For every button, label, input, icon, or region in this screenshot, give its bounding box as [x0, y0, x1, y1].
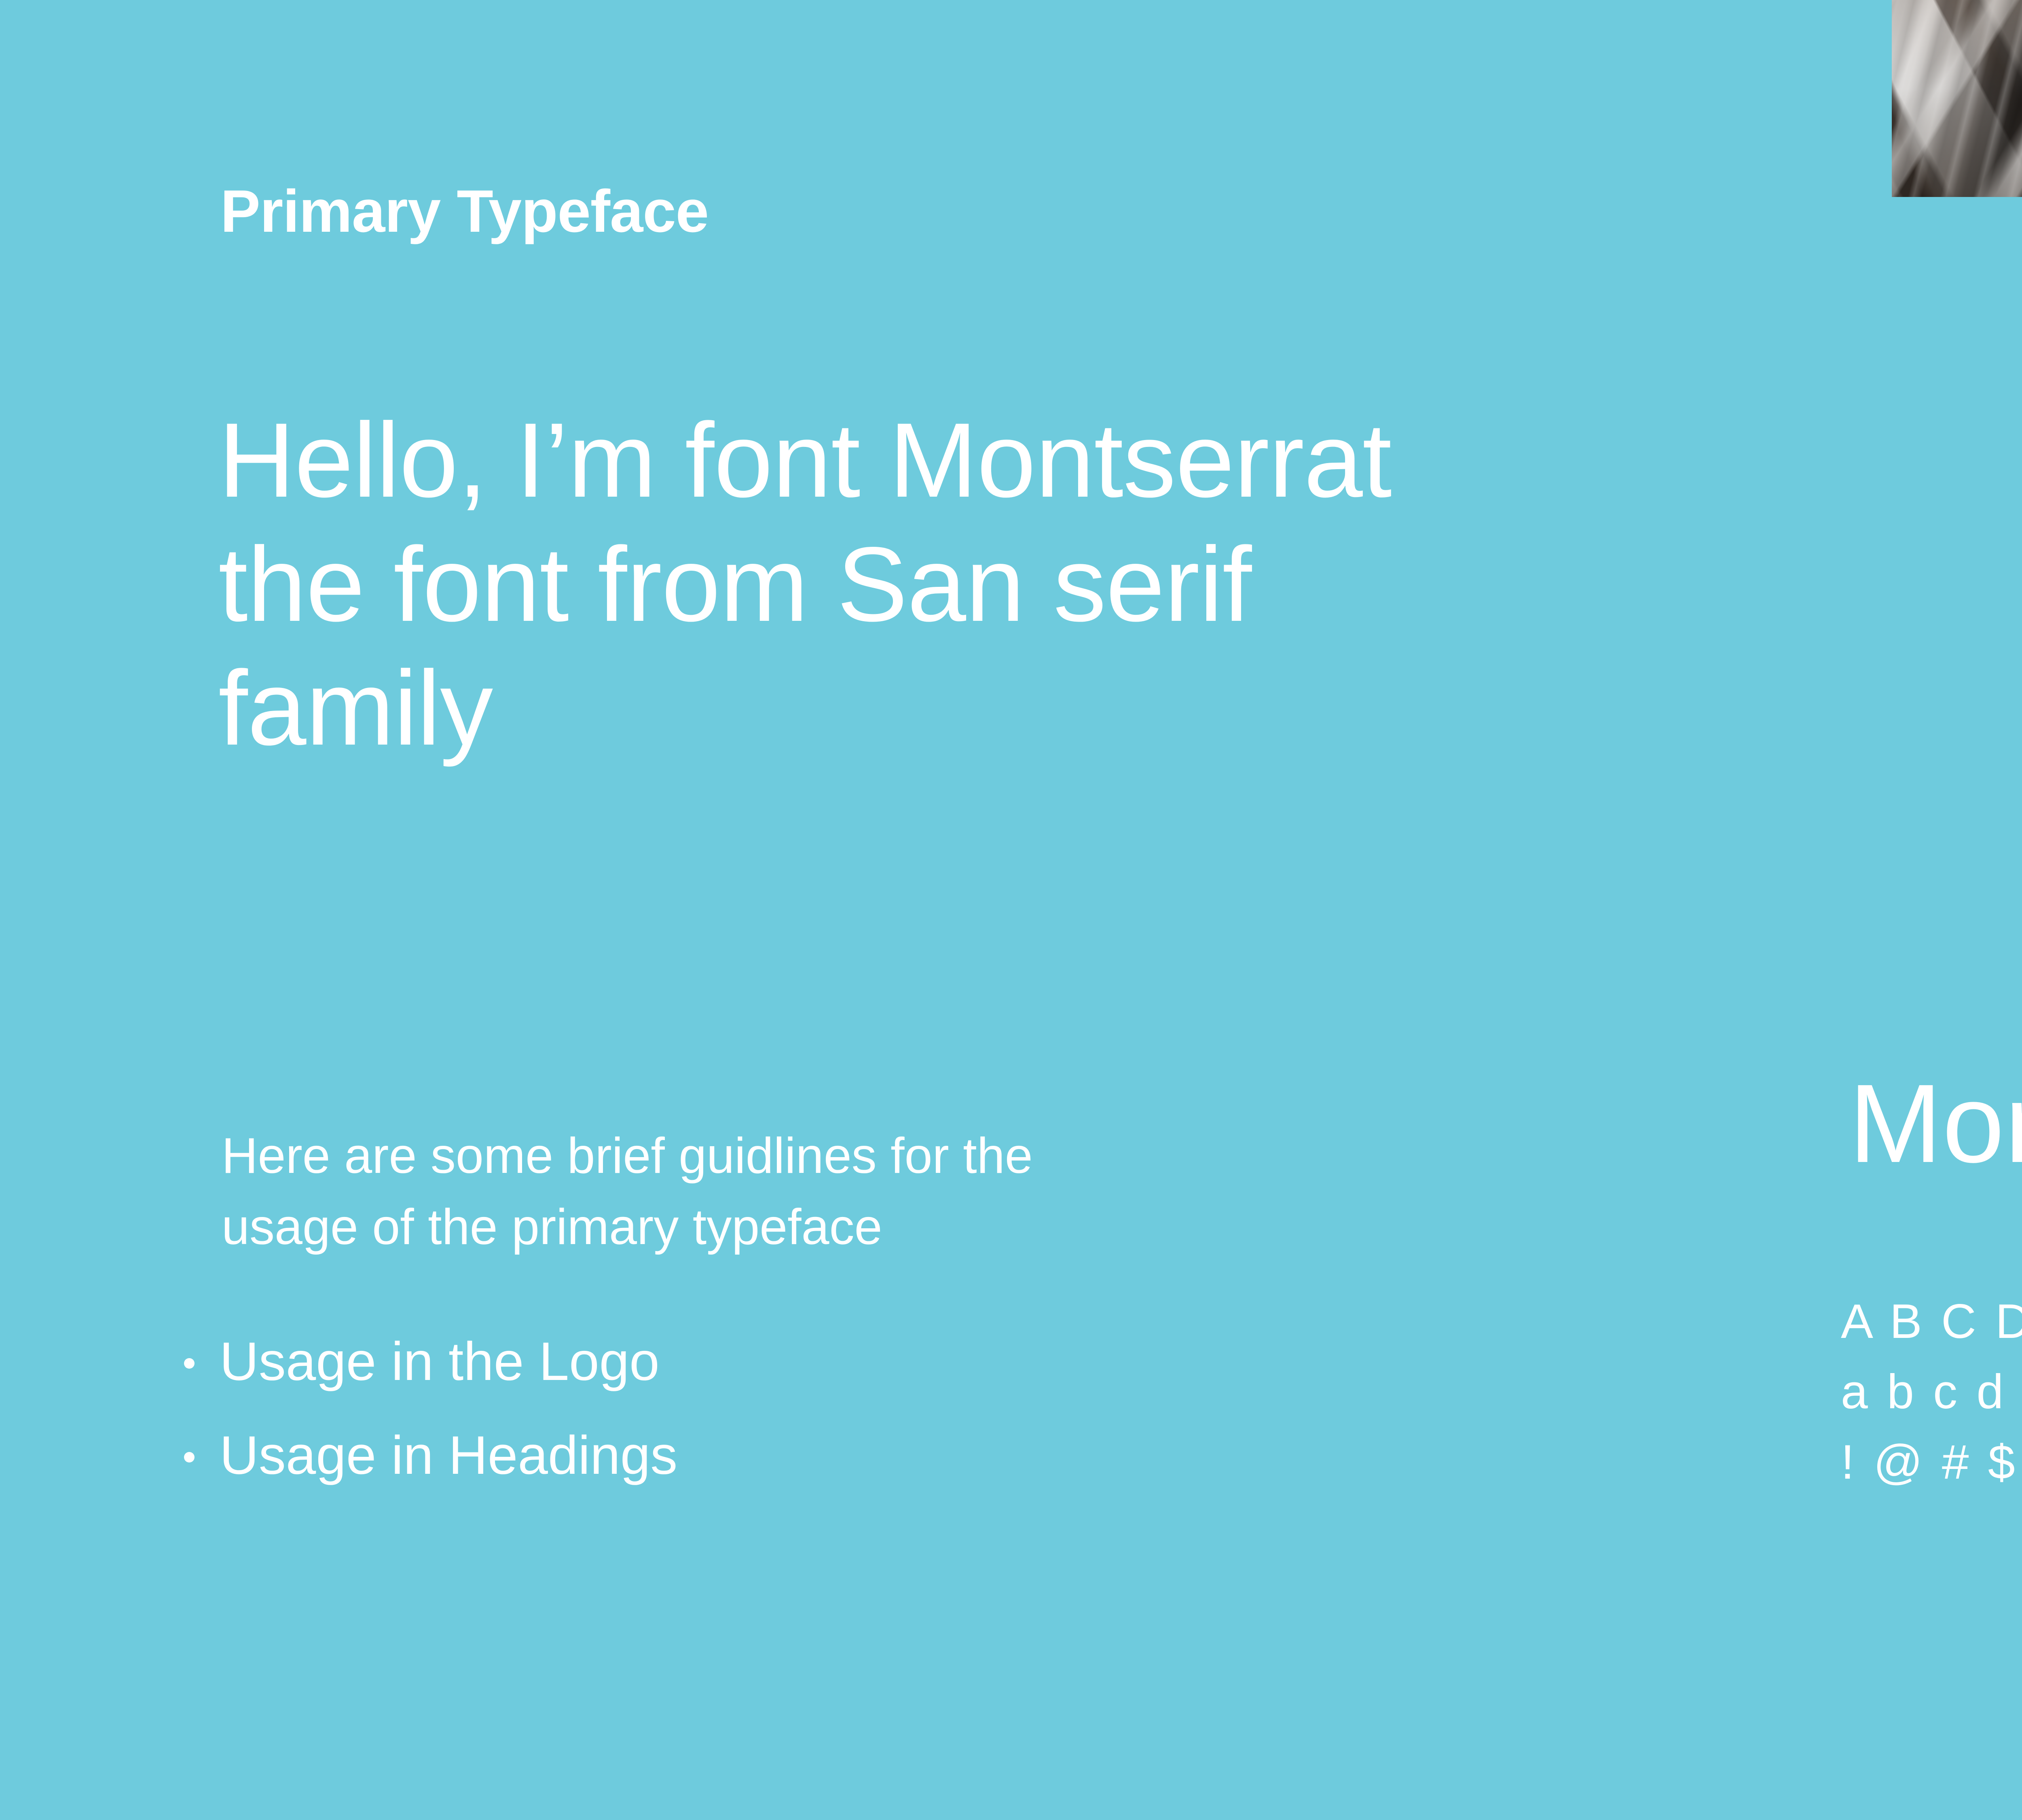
- list-item: Usage in Headings: [184, 1428, 677, 1483]
- intro-paragraph: Here are some brief guidlines for the us…: [222, 1120, 1313, 1263]
- usage-item-label: Usage in Headings: [220, 1428, 677, 1483]
- glyph-specimen: A B C D E F G H I J K L M N O P Q R S T …: [1841, 1286, 2022, 1497]
- bullet-dot-icon: [184, 1358, 195, 1369]
- font-name-display: Montserrat: [1849, 1068, 2022, 1179]
- bullet-dot-icon: [184, 1452, 195, 1462]
- list-item: Usage in the Logo: [184, 1335, 677, 1389]
- usage-guidelines-list: Usage in the Logo Usage in Headings: [184, 1335, 677, 1522]
- glyph-row-symbols: ! @ # $ % & * - = + { } [ ] ( ): [1841, 1427, 2022, 1497]
- usage-item-label: Usage in the Logo: [220, 1335, 660, 1389]
- photo-layer-grain: [1892, 0, 2022, 197]
- slide-canvas: Primary Typeface Hello, I’m font Montser…: [0, 0, 2022, 1820]
- intro-line-1: Here are some brief guidlines for the: [222, 1120, 1313, 1191]
- heading-line-3: family: [218, 646, 1836, 770]
- intro-line-2: usage of the primary typeface: [222, 1191, 1313, 1263]
- section-eyebrow-title: Primary Typeface: [220, 182, 709, 241]
- heading-line-1: Hello, I’m font Montserrat: [218, 398, 1836, 523]
- glyph-row-uppercase: A B C D E F G H I J K L M N O P Q R S T …: [1841, 1286, 2022, 1357]
- glyph-row-lowercase: a b c d e f g h i j k l m n o p q r s t …: [1841, 1357, 2022, 1427]
- heading-line-2: the font from San serif: [218, 523, 1836, 647]
- hero-photo-metal-pipes: [1892, 0, 2022, 197]
- page-title: Hello, I’m font Montserrat the font from…: [218, 398, 1836, 770]
